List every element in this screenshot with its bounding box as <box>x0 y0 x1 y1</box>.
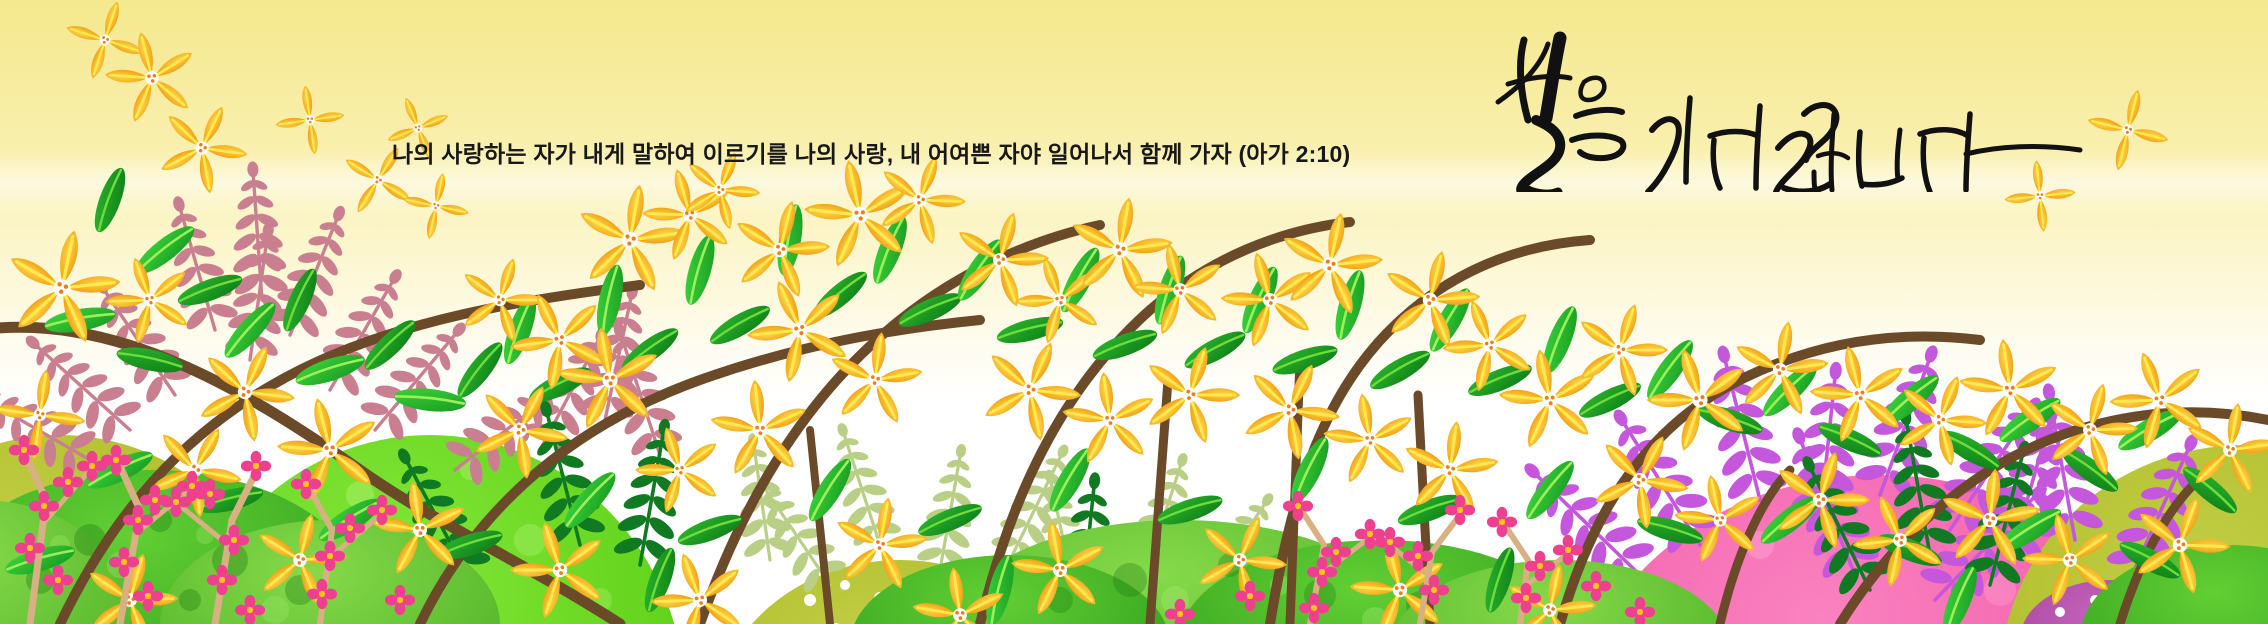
calligraphy-strokes <box>1488 22 2088 192</box>
bible-verse-text: 나의 사랑하는 자가 내게 말하여 이르기를 나의 사랑, 내 어여쁜 자야 일… <box>392 135 1350 169</box>
calligraphy-title <box>1488 22 2088 192</box>
spring-banner: 나의 사랑하는 자가 내게 말하여 이르기를 나의 사랑, 내 어여쁜 자야 일… <box>0 0 2268 624</box>
